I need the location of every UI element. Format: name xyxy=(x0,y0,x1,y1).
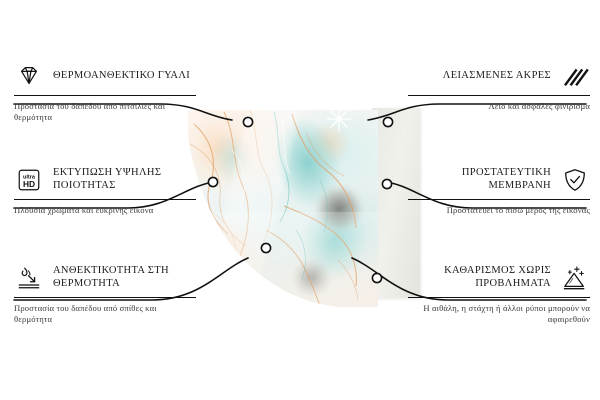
divider xyxy=(408,95,590,96)
product-image xyxy=(180,100,420,320)
feature-protective-membrane: ΠΡΟΣΤΑΤΕΥΤΙΚΗ ΜΕΜΒΡΑΝΗ Προστατεύει το πί… xyxy=(408,166,590,216)
ultra-hd-badge-icon: ultra HD xyxy=(14,166,44,194)
divider xyxy=(14,297,196,298)
diagonal-lines-icon xyxy=(560,62,590,90)
shield-check-icon xyxy=(560,166,590,194)
feature-title: ΕΚΤΥΠΩΣΗ ΥΨΗΛΗΣ ΠΟΙΟΤΗΤΑΣ xyxy=(53,167,196,192)
feature-header: ΠΡΟΣΤΑΤΕΥΤΙΚΗ ΜΕΜΒΡΑΝΗ xyxy=(408,166,590,194)
divider xyxy=(408,297,590,298)
divider xyxy=(14,95,196,96)
feature-title: ΑΝΘΕΚΤΙΚΟΤΗΤΑ ΣΤΗ ΘΕΡΜΟΤΗΤΑ xyxy=(53,265,196,290)
divider xyxy=(14,199,196,200)
marble-artwork xyxy=(188,110,378,307)
feature-header: ΚΑΘΑΡΙΣΜΟΣ ΧΩΡΙΣ ΠΡΟΒΛΗΜΑΤΑ xyxy=(408,264,590,292)
feature-description: Προστασία του δαπέδου από σπίθες και θερ… xyxy=(14,303,196,325)
feature-header: ultra HD ΕΚΤΥΠΩΣΗ ΥΨΗΛΗΣ ΠΟΙΟΤΗΤΑΣ xyxy=(14,166,196,194)
feature-title: ΠΡΟΣΤΑΤΕΥΤΙΚΗ ΜΕΜΒΡΑΝΗ xyxy=(408,167,551,192)
feature-heat-resistant-glass: ΘΕΡΜΟΑΝΘΕΚΤΙΚΟ ΓΥΑΛΙ Προστασία του δαπέδ… xyxy=(14,62,196,123)
feature-header: ΑΝΘΕΚΤΙΚΟΤΗΤΑ ΣΤΗ ΘΕΡΜΟΤΗΤΑ xyxy=(14,264,196,292)
feature-title: ΚΑΘΑΡΙΣΜΟΣ ΧΩΡΙΣ ΠΡΟΒΛΗΜΑΤΑ xyxy=(408,265,551,290)
divider xyxy=(408,199,590,200)
feature-description: Προστασία του δαπέδου από πιτσιλιές και … xyxy=(14,101,196,123)
feature-description: Προστατεύει το πίσω μέρος της εικόνας xyxy=(408,205,590,216)
feature-high-quality-print: ultra HD ΕΚΤΥΠΩΣΗ ΥΨΗΛΗΣ ΠΟΙΟΤΗΤΑΣ Πλούσ… xyxy=(14,166,196,216)
sparkle-clean-icon xyxy=(560,264,590,292)
feature-description: Λείο και ασφαλές φινίρισμα xyxy=(408,101,590,112)
feature-header: ΘΕΡΜΟΑΝΘΕΚΤΙΚΟ ΓΥΑΛΙ xyxy=(14,62,196,90)
feature-title: ΛΕΙΑΣΜΕΝΕΣ ΑΚΡΕΣ xyxy=(443,70,551,83)
feature-easy-cleaning: ΚΑΘΑΡΙΣΜΟΣ ΧΩΡΙΣ ΠΡΟΒΛΗΜΑΤΑ Η αιθάλη, η … xyxy=(408,264,590,325)
glass-splashback-art xyxy=(188,110,378,307)
infographic-canvas: ΘΕΡΜΟΑΝΘΕΚΤΙΚΟ ΓΥΑΛΙ Προστασία του δαπέδ… xyxy=(0,0,600,400)
feature-title: ΘΕΡΜΟΑΝΘΕΚΤΙΚΟ ΓΥΑΛΙ xyxy=(53,70,190,83)
feature-description: Πλούσια χρώματα και ευκρινής εικόνα xyxy=(14,205,196,216)
feature-heat-durability: ΑΝΘΕΚΤΙΚΟΤΗΤΑ ΣΤΗ ΘΕΡΜΟΤΗΤΑ Προστασία το… xyxy=(14,264,196,325)
diamond-icon xyxy=(14,62,44,90)
feature-header: ΛΕΙΑΣΜΕΝΕΣ ΑΚΡΕΣ xyxy=(408,62,590,90)
feature-polished-edges: ΛΕΙΑΣΜΕΝΕΣ ΑΚΡΕΣ Λείο και ασφαλές φινίρι… xyxy=(408,62,590,112)
flame-surface-icon xyxy=(14,264,44,292)
svg-text:HD: HD xyxy=(23,179,35,189)
feature-description: Η αιθάλη, η στάχτη ή άλλοι ρύποι μπορούν… xyxy=(408,303,590,325)
artwork-gold-veins xyxy=(188,110,378,307)
